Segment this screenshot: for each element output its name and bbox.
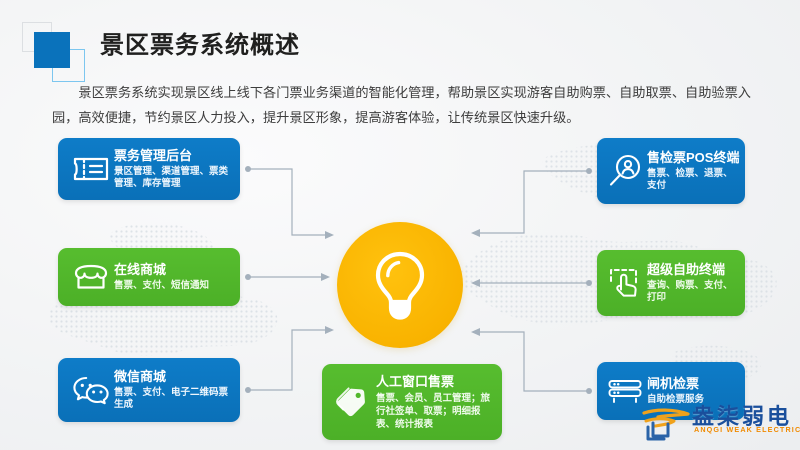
card-title: 票务管理后台: [114, 148, 232, 164]
card-subtitle: 售票、检票、退票、支付: [647, 168, 737, 193]
slide-canvas: 景区票务系统概述 景区票务系统实现景区线上线下各门票业务渠道的智能化管理，帮助景…: [0, 0, 800, 450]
card-title: 超级自助终端: [647, 262, 737, 278]
card-text: 微信商城 售票、支付、电子二维码票生成: [114, 369, 232, 412]
card-subtitle: 查询、购票、支付、打印: [647, 280, 737, 305]
card-online-mall[interactable]: 在线商城 售票、支付、短信通知: [58, 248, 240, 306]
ticket-list-icon: [68, 155, 114, 183]
card-ticket-backend[interactable]: 票务管理后台 景区管理、渠道管理、票类管理、库存管理: [58, 138, 240, 200]
card-title: 在线商城: [114, 262, 232, 278]
center-hub: [337, 222, 463, 348]
magnifier-person-icon: [603, 154, 647, 188]
card-manual-counter[interactable]: 人工窗口售票 售票、会员、员工管理；旅行社签单、取票；明细报表、统计报表: [322, 364, 502, 440]
card-text: 超级自助终端 查询、购票、支付、打印: [647, 262, 737, 305]
card-title: 闸机检票: [647, 376, 737, 392]
card-title: 人工窗口售票: [376, 374, 494, 390]
price-tag-icon: [330, 385, 376, 419]
card-subtitle: 售票、会员、员工管理；旅行社签单、取票；明细报表、统计报表: [376, 392, 494, 431]
decor-square-solid: [34, 32, 70, 68]
card-subtitle: 售票、支付、电子二维码票生成: [114, 387, 232, 412]
intro-paragraph: 景区票务系统实现景区线上线下各门票业务渠道的智能化管理，帮助景区实现游客自助购票…: [52, 80, 752, 130]
watermark-brand-en: ANQGI WEAK ELECTRICITY: [694, 425, 800, 434]
page-title: 景区票务系统概述: [100, 25, 300, 60]
card-text: 票务管理后台 景区管理、渠道管理、票类管理、库存管理: [114, 148, 232, 191]
card-pos-terminal[interactable]: 售检票POS终端 售票、检票、退票、支付: [597, 138, 745, 204]
card-title: 微信商城: [114, 369, 232, 385]
gate-turnstile-icon: [603, 378, 647, 404]
card-wechat-mall[interactable]: 微信商城 售票、支付、电子二维码票生成: [58, 358, 240, 422]
card-gate-check[interactable]: 闸机检票 自助检票服务: [597, 362, 745, 420]
card-text: 人工窗口售票 售票、会员、员工管理；旅行社签单、取票；明细报表、统计报表: [376, 374, 494, 431]
wechat-icon: [68, 375, 114, 405]
card-text: 闸机检票 自助检票服务: [647, 376, 737, 407]
card-text: 在线商城 售票、支付、短信通知: [114, 262, 232, 293]
lightbulb-icon: [369, 249, 431, 321]
touch-hand-icon: [603, 267, 647, 299]
card-subtitle: 售票、支付、短信通知: [114, 280, 232, 293]
storefront-icon: [68, 263, 114, 291]
card-subtitle: 自助检票服务: [647, 394, 737, 407]
header-decoration: [22, 22, 104, 84]
card-title: 售检票POS终端: [647, 150, 737, 166]
card-text: 售检票POS终端 售票、检票、退票、支付: [647, 150, 737, 193]
card-subtitle: 景区管理、渠道管理、票类管理、库存管理: [114, 166, 232, 191]
card-self-service-terminal[interactable]: 超级自助终端 查询、购票、支付、打印: [597, 250, 745, 316]
